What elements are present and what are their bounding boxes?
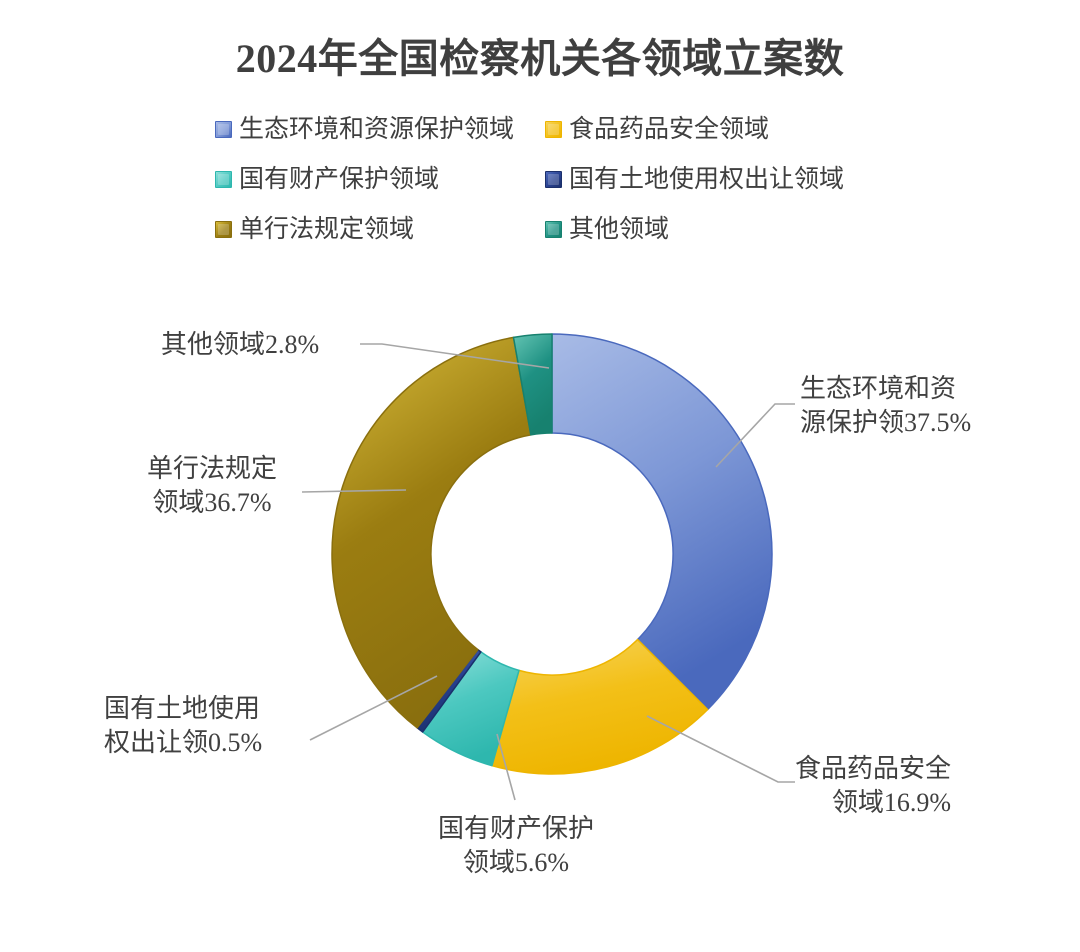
legend-label-special: 单行法规定领域 (239, 217, 414, 242)
legend-swatch-eco (215, 121, 232, 138)
donut-slice-food[interactable] (492, 640, 708, 774)
donut-chart-figure: 2024年全国检察机关各领域立案数 生态环境和资源保护领域 食品药品安全领域 国… (0, 0, 1080, 952)
leader-line-asset (497, 734, 515, 800)
donut-slice-group (332, 334, 772, 774)
page-title: 2024年全国检察机关各领域立案数 (0, 26, 1080, 84)
leader-line-group (302, 344, 795, 800)
data-label-eco-line2: 源保护领37.5% (800, 406, 971, 440)
donut-slice-special[interactable] (332, 337, 531, 727)
donut-slice-asset[interactable] (423, 652, 519, 766)
data-label-eco: 生态环境和资 源保护领37.5% (800, 372, 971, 440)
legend-item-eco[interactable]: 生态环境和资源保护领域 (215, 104, 545, 154)
legend-label-asset: 国有财产保护领域 (239, 167, 439, 192)
data-label-special-line1: 单行法规定 (122, 452, 302, 486)
donut-slice-land[interactable] (417, 650, 481, 732)
data-label-asset-line2: 领域5.6% (416, 846, 616, 880)
data-label-food-line1: 食品药品安全 (795, 752, 951, 786)
data-label-other-line1: 其他领域2.8% (161, 328, 319, 362)
legend-label-land: 国有土地使用权出让领域 (569, 167, 844, 192)
data-label-land-line2: 权出让领0.5% (104, 726, 262, 760)
legend-item-food[interactable]: 食品药品安全领域 (545, 104, 915, 154)
legend-swatch-asset (215, 171, 232, 188)
data-label-special-line2: 领域36.7% (122, 486, 302, 520)
legend-label-other: 其他领域 (569, 217, 669, 242)
legend-swatch-other (545, 221, 562, 238)
data-label-other: 其他领域2.8% (161, 328, 319, 362)
data-label-land: 国有土地使用 权出让领0.5% (104, 692, 262, 760)
chart-legend: 生态环境和资源保护领域 食品药品安全领域 国有财产保护领域 国有土地使用权出让领… (215, 104, 915, 254)
leader-line-food (647, 716, 795, 782)
leader-line-eco (716, 404, 795, 467)
data-label-special: 单行法规定 领域36.7% (122, 452, 302, 520)
legend-item-land[interactable]: 国有土地使用权出让领域 (545, 154, 915, 204)
legend-swatch-special (215, 221, 232, 238)
data-label-asset-line1: 国有财产保护 (416, 812, 616, 846)
data-label-food-line2: 领域16.9% (795, 786, 951, 820)
legend-label-food: 食品药品安全领域 (569, 117, 769, 142)
legend-item-special[interactable]: 单行法规定领域 (215, 204, 545, 254)
legend-label-eco: 生态环境和资源保护领域 (239, 117, 514, 142)
data-label-asset: 国有财产保护 领域5.6% (416, 812, 616, 880)
leader-line-other (360, 344, 549, 368)
legend-swatch-food (545, 121, 562, 138)
legend-swatch-land (545, 171, 562, 188)
data-label-land-line1: 国有土地使用 (104, 692, 262, 726)
donut-slice-other[interactable] (513, 334, 552, 435)
donut-slice-eco[interactable] (552, 334, 772, 710)
data-label-food: 食品药品安全 领域16.9% (795, 752, 951, 820)
leader-line-special (302, 490, 406, 492)
legend-item-asset[interactable]: 国有财产保护领域 (215, 154, 545, 204)
leader-line-land (310, 676, 437, 740)
legend-item-other[interactable]: 其他领域 (545, 204, 915, 254)
data-label-eco-line1: 生态环境和资 (800, 372, 971, 406)
